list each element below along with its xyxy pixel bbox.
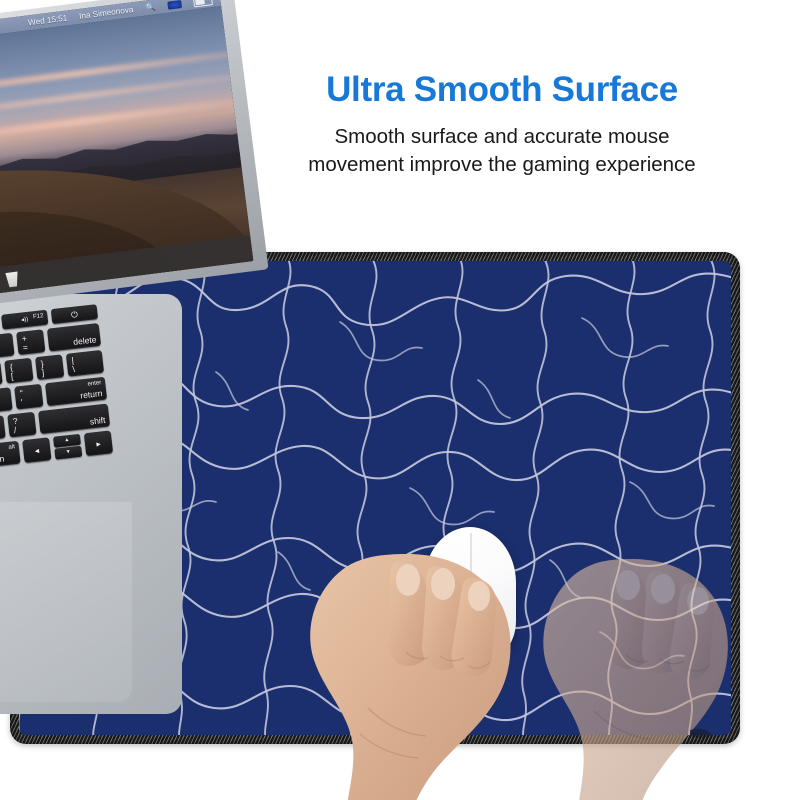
hand-on-mouse [280,548,550,800]
trash-icon[interactable] [3,269,22,288]
key-semicolon[interactable]: : ; [0,387,13,413]
arrow-left-icon: ◂ [23,444,51,455]
key-label: F12 [33,313,44,320]
page-title: Ultra Smooth Surface [262,72,742,109]
key-glyph-top: alt [8,444,15,451]
key-bracket-right[interactable]: } ] [35,354,64,380]
ghost-hand-overlay [520,555,760,800]
key-glyph-bottom: \ [72,364,75,373]
key-label: delete [73,335,97,346]
key-option[interactable]: alt option [0,441,21,469]
key-glyph-bottom: ' [20,398,23,407]
laptop-lid: Wed 15:51 Ina Simeonova 🔍 [0,0,277,318]
laptop-screen: Wed 15:51 Ina Simeonova 🔍 [0,0,253,304]
key-period[interactable]: > . [0,415,6,441]
key-glyph-bottom: = [22,343,28,352]
marketing-copy: Ultra Smooth Surface Smooth surface and … [262,72,742,179]
key-shift-right[interactable]: shift [38,404,110,435]
key-equals[interactable]: + = [16,329,45,355]
laptop: ◂)) F10 ◂)) F11 ◂)) F12 ⏻ [0,28,270,728]
laptop-base: ◂)) F10 ◂)) F11 ◂)) F12 ⏻ [0,294,182,714]
power-button[interactable]: ⏻ [51,304,98,324]
key-glyph-bottom: ] [41,368,44,377]
key-minus[interactable]: — - [0,333,15,359]
key-label: shift [89,415,105,425]
key-quote[interactable]: " ' [14,384,43,410]
key-glyph-bottom: return [80,389,103,400]
key-f12[interactable]: ◂)) F12 [1,310,48,330]
desktop-wallpaper [0,6,253,304]
key-glyph-bottom: [ [10,371,13,380]
key-backslash[interactable]: | \ [66,350,104,377]
key-label: option [0,454,5,465]
power-icon: ⏻ [51,307,98,321]
subtitle-line-1: Smooth surface and accurate mouse [262,123,742,151]
pad-pattern-showthrough [690,729,712,738]
key-arrow-right[interactable]: ▸ [84,430,113,456]
key-label: P [0,368,2,380]
product-marketing-image: ◂)) F10 ◂)) F11 ◂)) F12 ⏻ [0,0,800,800]
key-arrow-updown[interactable]: ▴ ▾ [53,434,82,460]
laptop-keyboard: ◂)) F10 ◂)) F11 ◂)) F12 ⏻ [0,304,114,485]
key-p[interactable]: P [0,361,3,388]
key-slash[interactable]: ? / [7,412,36,438]
key-glyph-bottom: / [13,425,16,434]
arrow-right-icon: ▸ [85,438,113,449]
keyboard-row-modifiers: alt option ◂ ▴ ▾ ▸ [0,430,113,481]
bluetooth-icon[interactable] [167,0,182,9]
key-glyph-top: enter [87,380,101,387]
palm-rest [0,502,132,702]
key-arrow-left[interactable]: ◂ [22,437,51,463]
key-delete[interactable]: delete [47,323,101,352]
arrow-down-icon: ▾ [55,448,83,457]
battery-icon[interactable] [193,0,213,7]
subtitle-line-2: movement improve the gaming experience [262,151,742,179]
search-icon[interactable]: 🔍 [145,1,157,13]
arrow-up-icon: ▴ [53,436,81,445]
key-arrow-down[interactable]: ▾ [54,446,82,459]
key-return[interactable]: enter return [45,377,107,407]
key-bracket-left[interactable]: { [ [4,358,33,384]
